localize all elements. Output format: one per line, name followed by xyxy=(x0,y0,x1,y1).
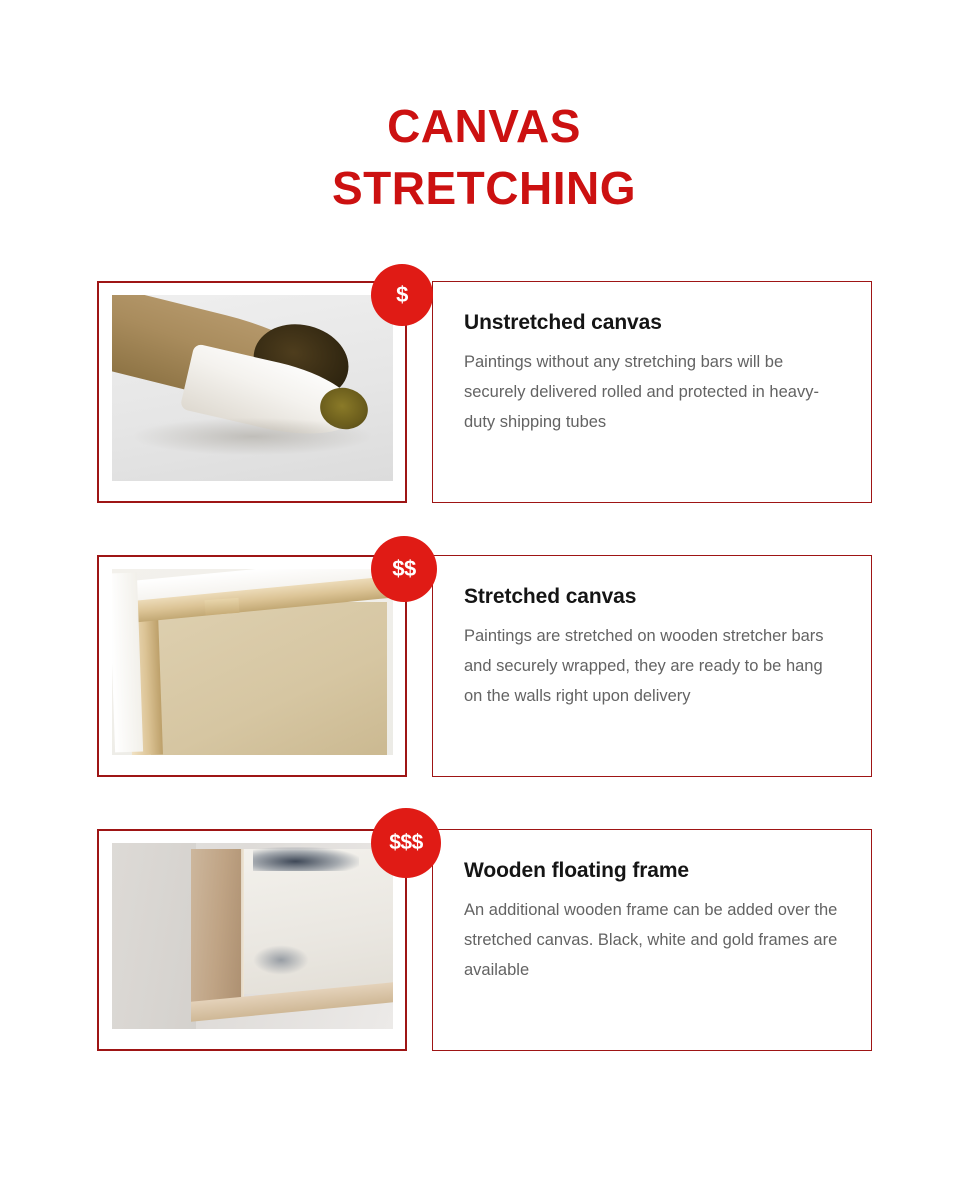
shipping-tube-image xyxy=(112,295,393,481)
option-description: An additional wooden frame can be added … xyxy=(464,895,841,985)
page-title: CANVAS STRETCHING xyxy=(0,0,968,219)
option-title: Wooden floating frame xyxy=(464,859,841,883)
option-description: Paintings are stretched on wooden stretc… xyxy=(464,621,841,711)
stretched-canvas-image xyxy=(112,569,393,755)
option-row: $$ Stretched canvas Paintings are stretc… xyxy=(0,555,968,777)
option-description: Paintings without any stretching bars wi… xyxy=(464,347,841,437)
option-text-card: Wooden floating frame An additional wood… xyxy=(432,829,872,1051)
page-title-line-1: CANVAS xyxy=(0,95,968,157)
price-badge: $ xyxy=(371,264,433,326)
floating-frame-image xyxy=(112,843,393,1029)
page-title-line-2: STRETCHING xyxy=(0,157,968,219)
option-photo xyxy=(112,843,393,1029)
option-image-card[interactable]: $$$ xyxy=(97,829,407,1051)
option-text-card: Stretched canvas Paintings are stretched… xyxy=(432,555,872,777)
option-image-card[interactable]: $$ xyxy=(97,555,407,777)
option-image-card[interactable]: $ xyxy=(97,281,407,503)
option-row: $ Unstretched canvas Paintings without a… xyxy=(0,281,968,503)
option-text-card: Unstretched canvas Paintings without any… xyxy=(432,281,872,503)
price-badge: $$ xyxy=(371,536,437,602)
option-photo xyxy=(112,295,393,481)
price-badge: $$$ xyxy=(371,808,441,878)
option-row: $$$ Wooden floating frame An additional … xyxy=(0,829,968,1051)
options-list: $ Unstretched canvas Paintings without a… xyxy=(0,281,968,1103)
option-title: Unstretched canvas xyxy=(464,311,841,335)
option-title: Stretched canvas xyxy=(464,585,841,609)
option-photo xyxy=(112,569,393,755)
